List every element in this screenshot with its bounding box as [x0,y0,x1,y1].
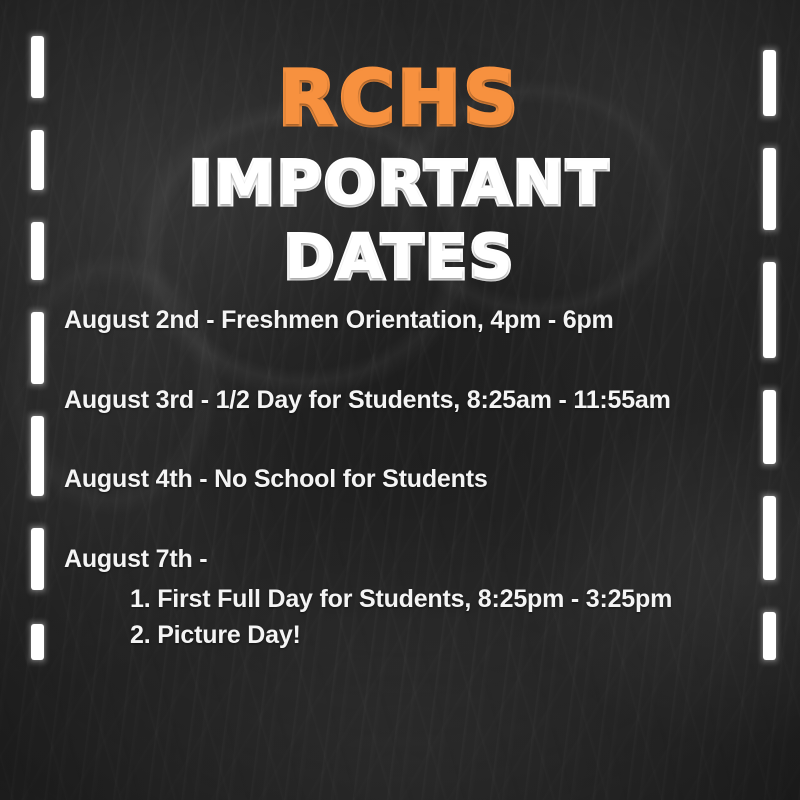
chalk-dash-right-4 [763,390,776,464]
page-subtitle-line-2: DATES [0,228,800,288]
page-title: RCHS [0,62,800,136]
chalk-dash-right-5 [763,496,776,580]
sub-list-item: 1. First Full Day for Students, 8:25pm -… [130,582,754,618]
august-7th-sub-list: 1. First Full Day for Students, 8:25pm -… [64,582,754,653]
page-subtitle-line-1: IMPORTANT [0,154,800,214]
chalk-dash-left-5 [31,416,44,496]
chalkboard-poster: RCHS IMPORTANT DATES August 2nd - Freshm… [0,0,800,800]
sub-list-item: 2. Picture Day! [130,618,754,654]
date-entry: August 7th - [64,545,754,575]
important-dates-list: August 2nd - Freshmen Orientation, 4pm -… [64,306,754,653]
date-entry: August 2nd - Freshmen Orientation, 4pm -… [64,306,754,336]
chalk-dash-right-6 [763,612,776,660]
poster-heading-group: RCHS IMPORTANT DATES [0,62,800,288]
date-entry: August 3rd - 1/2 Day for Students, 8:25a… [64,386,754,416]
chalk-dash-left-7 [31,624,44,660]
date-entry: August 4th - No School for Students [64,465,754,495]
chalk-dash-left-4 [31,312,44,384]
chalk-dash-left-6 [31,528,44,590]
